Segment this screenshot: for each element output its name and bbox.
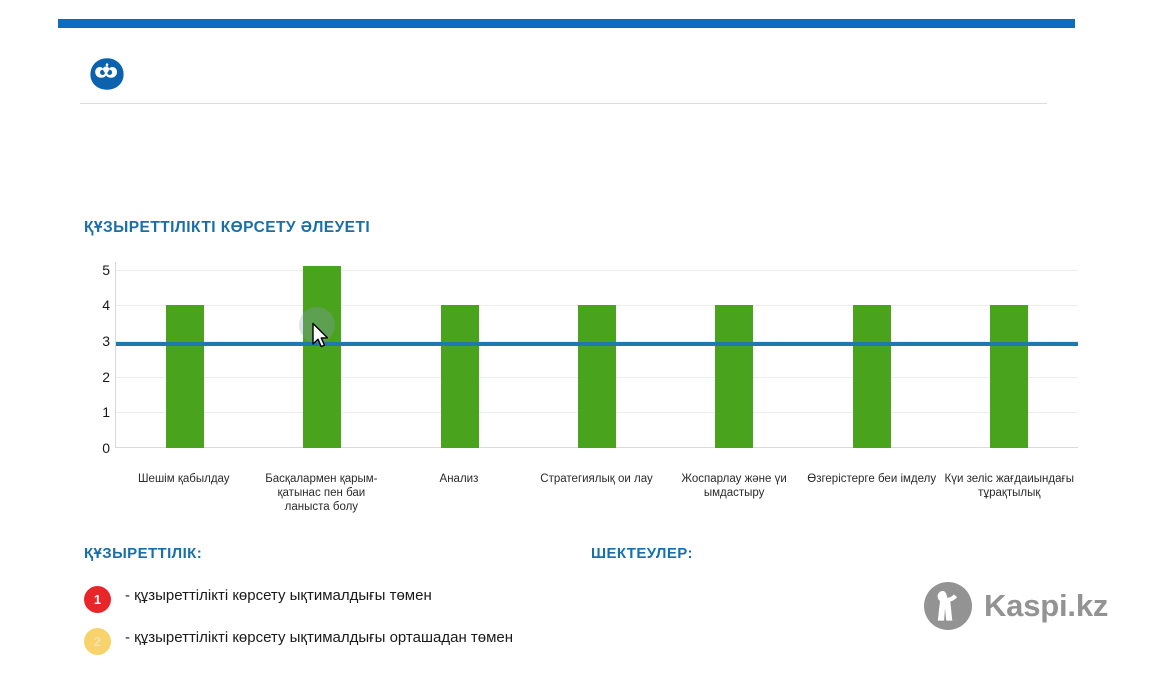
- y-axis: 5 4 3 2 1 0: [78, 262, 110, 458]
- y-tick-1: 1: [78, 405, 110, 419]
- legend-list: 1- құзыреттілікті көрсету ықтималдығы тө…: [84, 585, 604, 669]
- legend-badge-2: 2: [84, 628, 111, 655]
- kaspi-circle-logo-icon: [923, 581, 973, 631]
- category-label: Шешім қабылдау: [115, 472, 253, 514]
- legend-item: 2- құзыреттілікті көрсету ықтималдығы ор…: [84, 627, 604, 655]
- kaspi-watermark: Kaspi.kz: [923, 581, 1108, 631]
- y-tick-2: 2: [78, 370, 110, 384]
- bar-slot[interactable]: [253, 262, 390, 448]
- document-page: ҚҰЗЫРЕТТІЛІКТІ КӨРСЕТУ ӘЛЕУЕТІ 5 4 3 2 1…: [0, 0, 1175, 677]
- bar-slot[interactable]: [941, 262, 1078, 448]
- bar[interactable]: [853, 305, 891, 448]
- plot-area: [115, 262, 1078, 448]
- bar-slot[interactable]: [803, 262, 940, 448]
- top-blue-rule: [58, 19, 1075, 28]
- bar[interactable]: [990, 305, 1028, 448]
- category-label: Күи зеліс жағдаиындағы тұрақтылық: [940, 472, 1078, 514]
- y-tick-4: 4: [78, 298, 110, 312]
- chart-title: ҚҰЗЫРЕТТІЛІКТІ КӨРСЕТУ ӘЛЕУЕТІ: [84, 219, 370, 237]
- shanyrak-ornament-logo-icon: [88, 57, 126, 91]
- category-label: Өзгерістерге беи імделу: [803, 472, 941, 514]
- category-label: Анализ: [390, 472, 528, 514]
- bar-series: [116, 262, 1078, 448]
- y-tick-0: 0: [78, 441, 110, 455]
- average-reference-line: [116, 342, 1078, 346]
- y-tick-3: 3: [78, 334, 110, 348]
- bar-slot[interactable]: [391, 262, 528, 448]
- y-tick-5: 5: [78, 263, 110, 277]
- category-label: Жоспарлау және үи ымдастыру: [665, 472, 803, 514]
- category-axis-labels: Шешім қабылдауБасқалармен қарым-қатынас …: [115, 472, 1078, 514]
- bar[interactable]: [303, 266, 341, 448]
- bar-slot[interactable]: [528, 262, 665, 448]
- header-divider: [80, 103, 1047, 104]
- legend-item: 1- құзыреттілікті көрсету ықтималдығы тө…: [84, 585, 604, 613]
- legend-item-text: - құзыреттілікті көрсету ықтималдығы орт…: [125, 627, 513, 649]
- bar[interactable]: [441, 305, 479, 448]
- bar-slot[interactable]: [666, 262, 803, 448]
- bar[interactable]: [578, 305, 616, 448]
- bar[interactable]: [166, 305, 204, 448]
- legend-limits-title: ШЕКТЕУЛЕР:: [591, 545, 693, 562]
- category-label: Стратегиялық ои лау: [528, 472, 666, 514]
- category-label: Басқалармен қарым-қатынас пен баи ланыст…: [253, 472, 391, 514]
- kaspi-watermark-text: Kaspi.kz: [984, 588, 1108, 624]
- bar-slot[interactable]: [116, 262, 253, 448]
- document-header: [88, 57, 1048, 99]
- legend-item-text: - құзыреттілікті көрсету ықтималдығы төм…: [125, 585, 432, 607]
- legend-badge-1: 1: [84, 586, 111, 613]
- bar[interactable]: [715, 305, 753, 448]
- legend-competency-title: ҚҰЗЫРЕТТІЛІК:: [84, 545, 202, 562]
- competency-bar-chart: 5 4 3 2 1 0: [78, 262, 1078, 458]
